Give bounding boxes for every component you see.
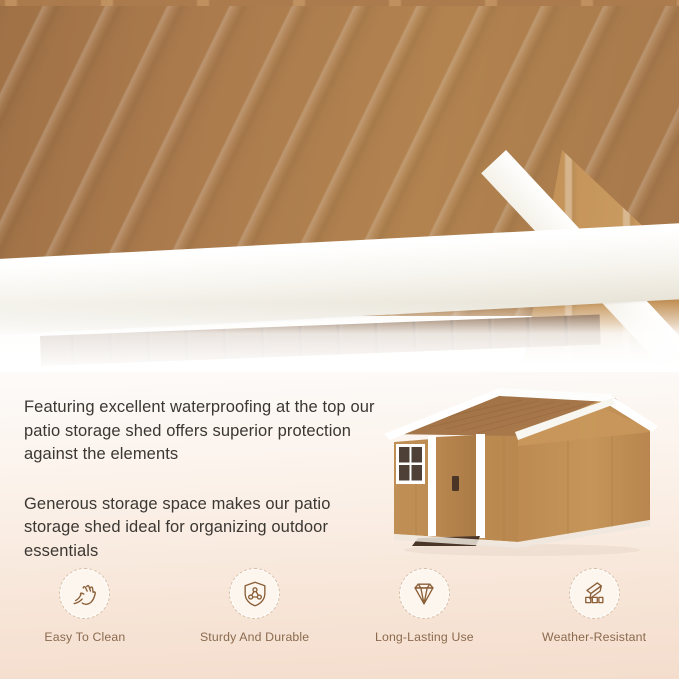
hero-bottom-fade xyxy=(0,302,679,372)
shield-icon xyxy=(229,568,280,619)
hero-roof-photo xyxy=(0,0,679,372)
shed-door-frame-right xyxy=(476,434,485,538)
shed-door-frame-left xyxy=(428,436,436,536)
feature-long-lasting-use[interactable]: Long-Lasting Use xyxy=(340,568,510,660)
feature-row: Easy To Clean Sturdy And Durable xyxy=(0,568,679,660)
wiping-hand-icon xyxy=(59,568,110,619)
feature-easy-to-clean[interactable]: Easy To Clean xyxy=(0,568,170,660)
feature-sturdy-and-durable[interactable]: Sturdy And Durable xyxy=(170,568,340,660)
feature-label: Weather-Resistant xyxy=(542,630,646,644)
feature-label: Long-Lasting Use xyxy=(375,630,474,644)
product-feature-image: Featuring excellent waterproofing at the… xyxy=(0,0,679,679)
diamond-icon xyxy=(399,568,450,619)
info-panel: Featuring excellent waterproofing at the… xyxy=(0,372,679,679)
copy-paragraph-1: Featuring excellent waterproofing at the… xyxy=(24,396,376,467)
marketing-copy: Featuring excellent waterproofing at the… xyxy=(24,396,376,563)
roof-ridge-caps xyxy=(0,0,679,6)
feature-label: Easy To Clean xyxy=(44,630,125,644)
shed-door-handle xyxy=(452,476,459,491)
shed-product-illustration xyxy=(372,384,662,564)
feature-label: Sturdy And Durable xyxy=(200,630,309,644)
feature-weather-resistant[interactable]: Weather-Resistant xyxy=(509,568,679,660)
copy-paragraph-2: Generous storage space makes our patio s… xyxy=(24,493,376,564)
stacked-planks-icon xyxy=(569,568,620,619)
